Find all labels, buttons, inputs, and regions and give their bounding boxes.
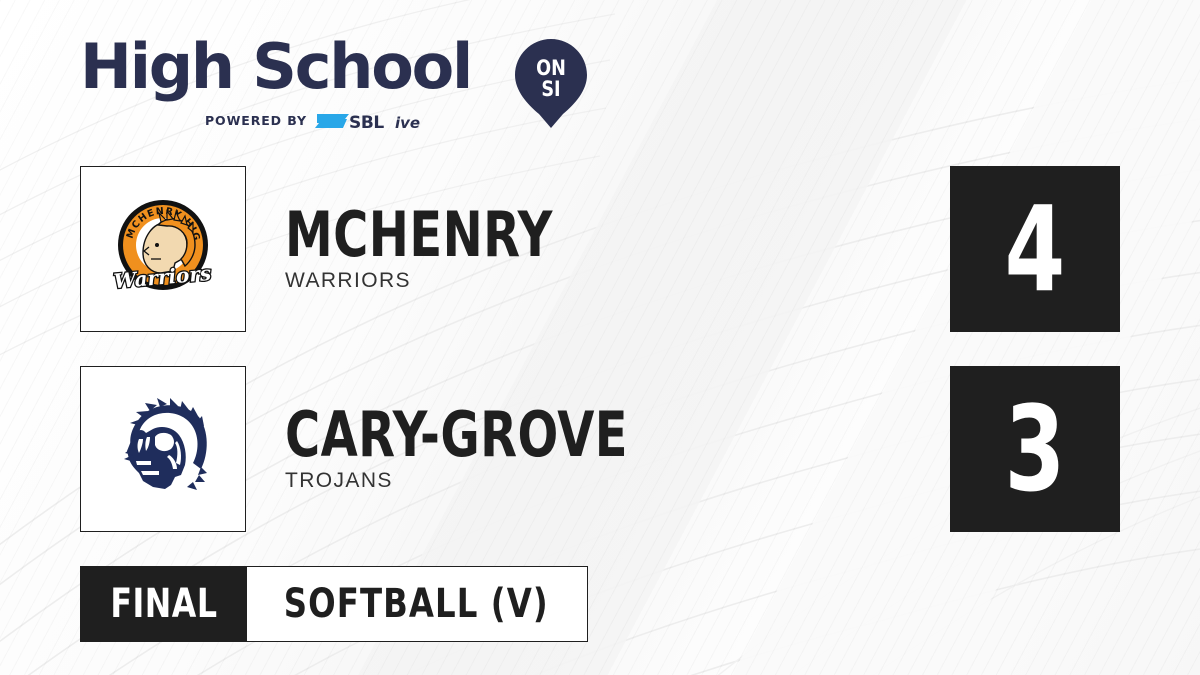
mchenry-warriors-logo-icon: MCHENRY HIGH SCHOOL <box>103 189 223 309</box>
game-status-badge: FINAL <box>81 567 247 641</box>
team-row: CARY-GROVE TROJANS 3 <box>80 366 1120 534</box>
on-si-pin-icon: ON SI <box>514 38 588 130</box>
team-name: CARY-GROVE <box>285 405 628 465</box>
team-score: 3 <box>1005 390 1066 508</box>
team-identity: CARY-GROVE TROJANS <box>285 366 684 532</box>
scoreboard-graphic: High School ON SI POWERED BY SBL ive <box>0 0 1200 675</box>
team-mascot: TROJANS <box>285 469 684 493</box>
status-bar: FINAL SOFTBALL (V) <box>80 566 588 642</box>
team-logo-card <box>80 366 246 532</box>
brand-wordmark: High School <box>80 36 471 98</box>
team-score-box: 4 <box>950 166 1120 332</box>
powered-by-row: POWERED BY SBL ive <box>205 111 433 131</box>
game-status-label: FINAL <box>110 581 217 627</box>
team-mascot: WARRIORS <box>285 269 596 293</box>
sport-label: SOFTBALL (V) <box>284 581 549 627</box>
svg-text:SBL: SBL <box>349 113 384 132</box>
svg-text:ive: ive <box>395 114 420 132</box>
pin-label-si: SI <box>541 77 560 102</box>
team-row: MCHENRY HIGH SCHOOL <box>80 166 1120 334</box>
sport-label-container: SOFTBALL (V) <box>247 567 587 641</box>
team-identity: MCHENRY WARRIORS <box>285 166 596 332</box>
cary-grove-trojans-logo-icon <box>103 389 223 509</box>
powered-by-label: POWERED BY <box>205 111 307 131</box>
team-logo-card: MCHENRY HIGH SCHOOL <box>80 166 246 332</box>
sblive-logo-icon: SBL ive <box>315 110 433 132</box>
team-score: 4 <box>1005 190 1066 308</box>
team-name: MCHENRY <box>285 205 553 265</box>
brand-logo: High School ON SI POWERED BY SBL ive <box>80 34 510 134</box>
team-score-box: 3 <box>950 366 1120 532</box>
